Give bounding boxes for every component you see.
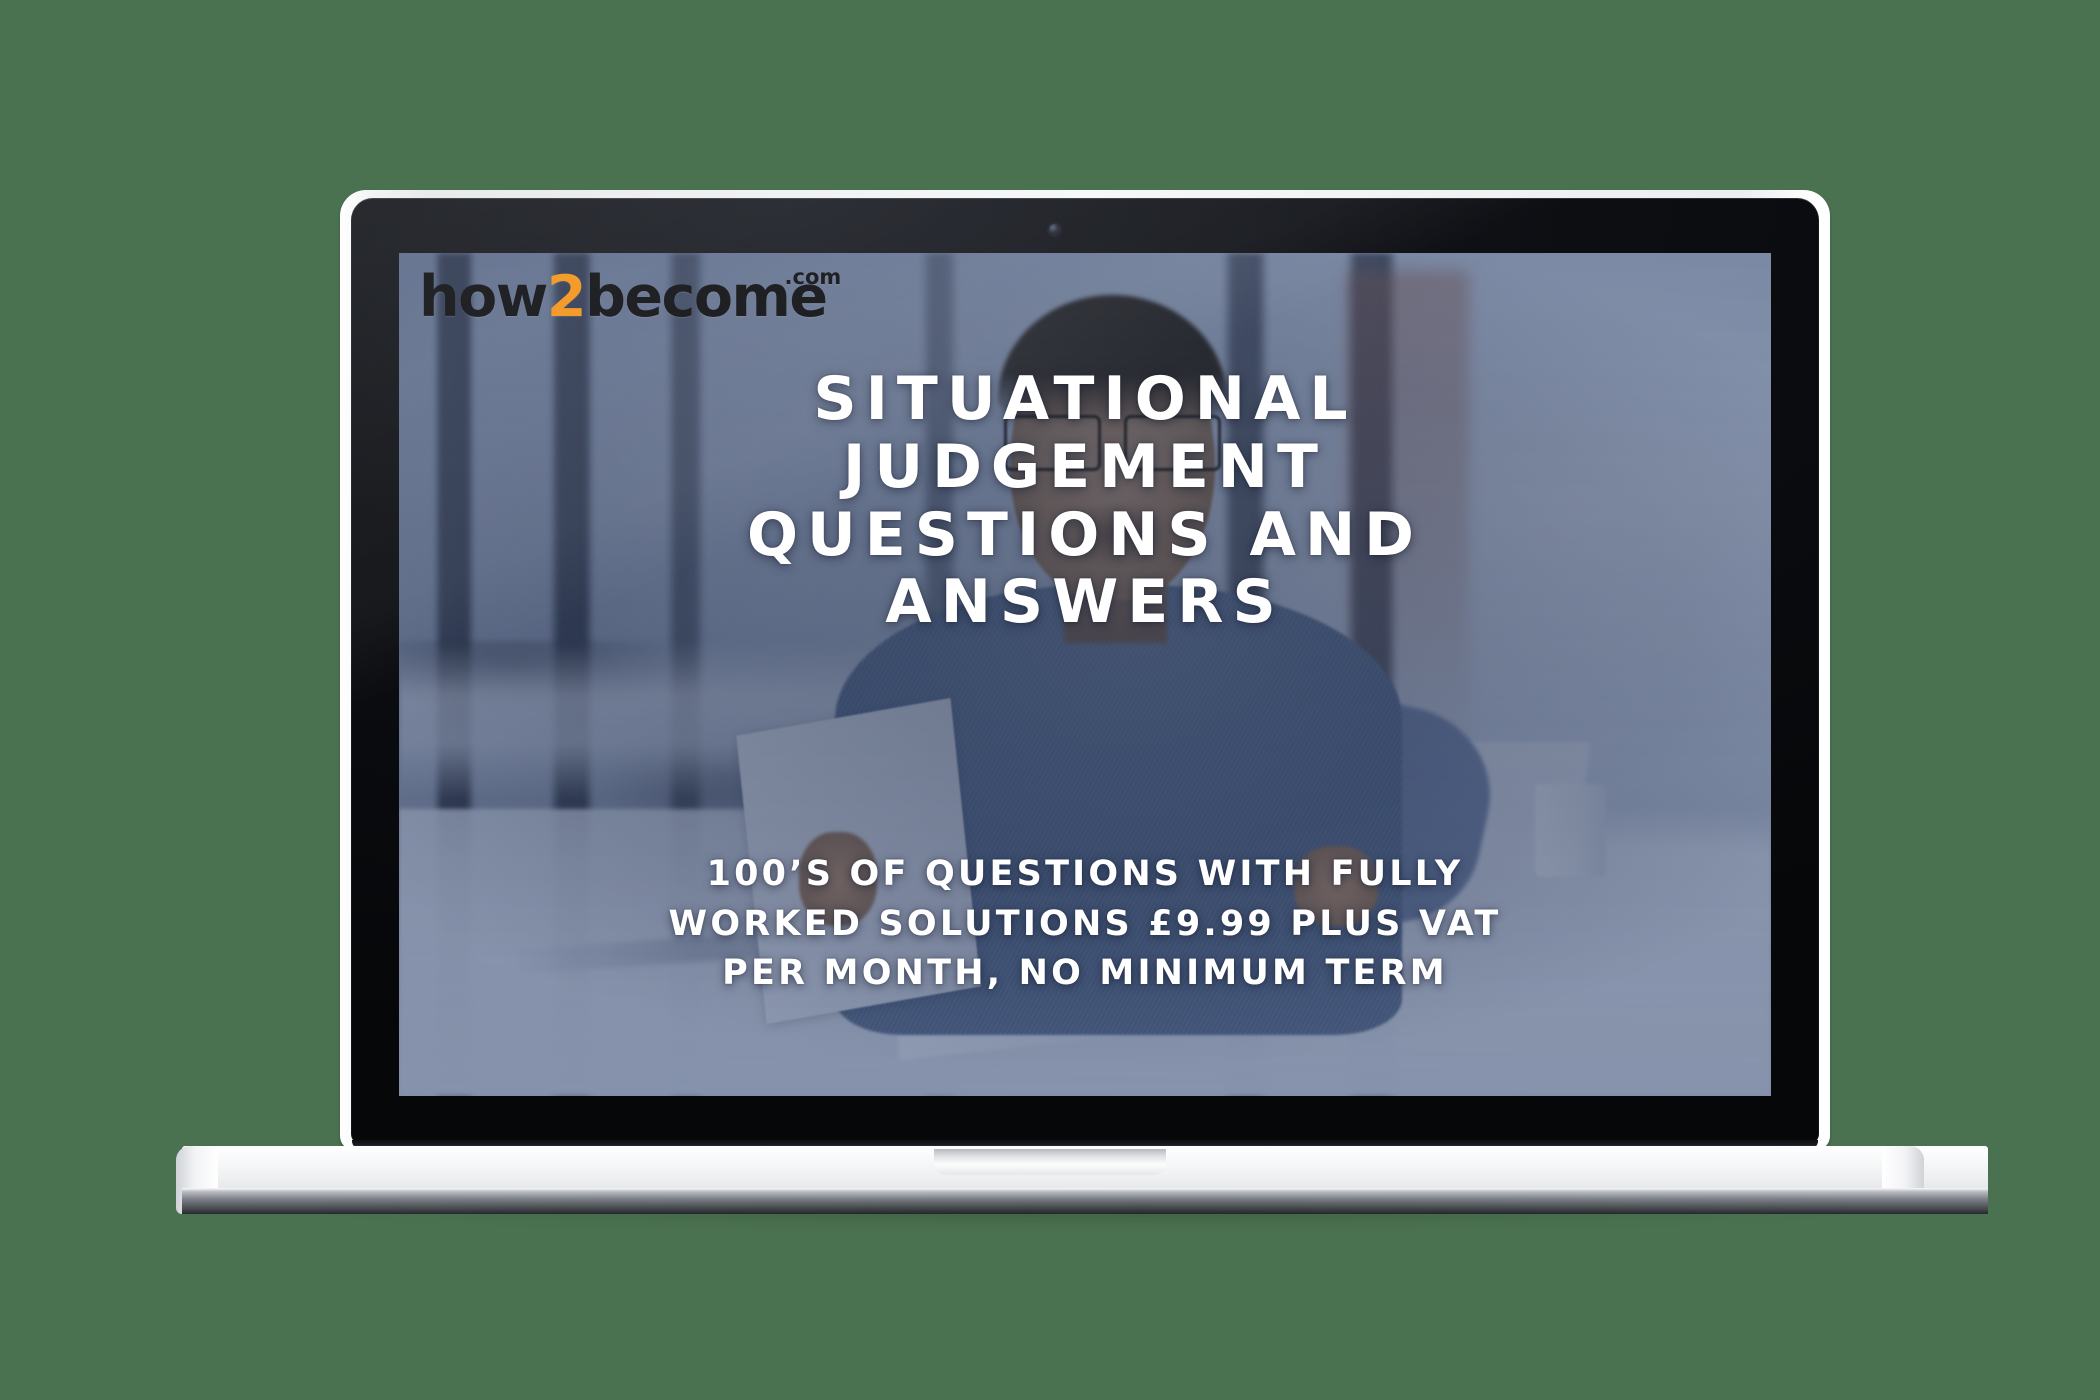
headline-line-2: JUDGEMENT — [399, 434, 1771, 502]
logo-digit-2: 2 — [547, 264, 585, 330]
laptop-floor-shadow — [240, 1205, 1930, 1231]
headline-line-3: QUESTIONS AND — [399, 502, 1771, 570]
page-title: SITUATIONAL JUDGEMENT QUESTIONS AND ANSW… — [399, 366, 1771, 637]
screen-content: how2become.com SITUATIONAL JUDGEMENT QUE… — [399, 253, 1771, 1096]
webcam-icon — [1049, 224, 1060, 235]
laptop-screen[interactable]: how2become.com SITUATIONAL JUDGEMENT QUE… — [399, 253, 1771, 1096]
laptop-mockup: how2become.com SITUATIONAL JUDGEMENT QUE… — [0, 0, 2100, 1400]
headline-line-1: SITUATIONAL — [399, 366, 1771, 434]
trackpad-notch — [934, 1149, 1166, 1175]
how2become-logo[interactable]: how2become.com — [419, 269, 883, 326]
headline-line-4: ANSWERS — [399, 569, 1771, 637]
logo-dotcom: .com — [785, 265, 842, 289]
subheadline-line-1: 100’S OF QUESTIONS WITH FULLY — [399, 850, 1771, 900]
subheadline-line-3: PER MONTH, NO MINIMUM TERM — [399, 949, 1771, 999]
subheadline-line-2: WORKED SOLUTIONS £9.99 PLUS VAT — [399, 900, 1771, 950]
logo-part1: how — [419, 264, 547, 330]
page-subtitle: 100’S OF QUESTIONS WITH FULLY WORKED SOL… — [399, 850, 1771, 999]
